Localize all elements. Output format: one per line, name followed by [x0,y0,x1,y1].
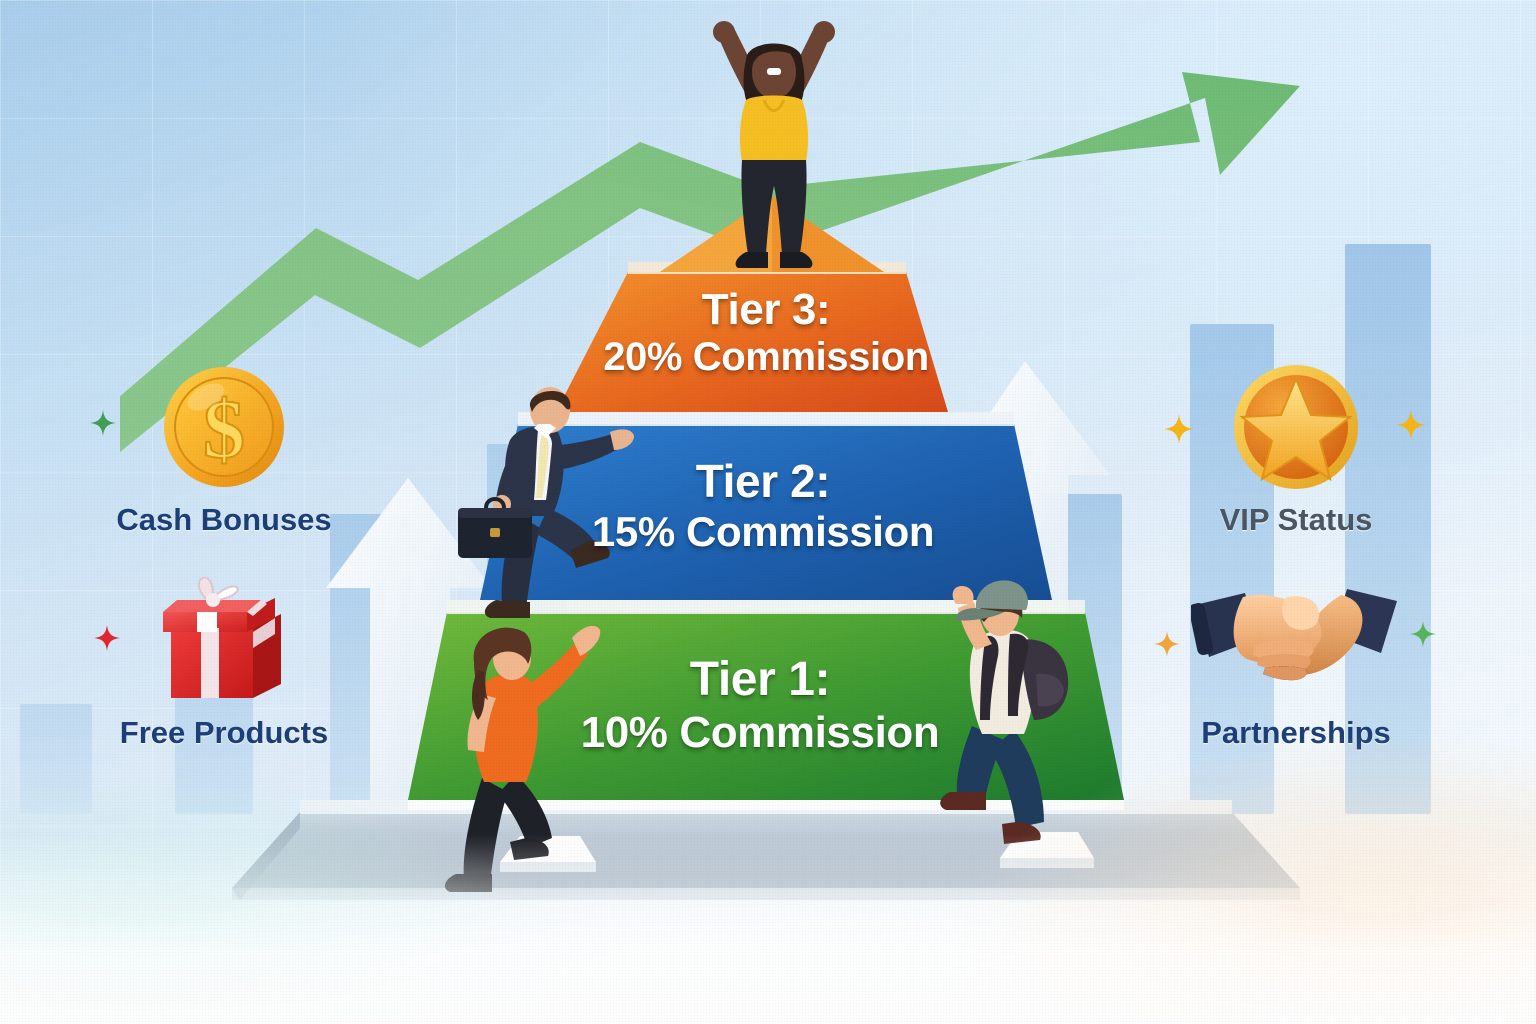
cash-bonuses-icon-wrap: $ [74,352,374,502]
feature-cash-bonuses[interactable]: $ Cash Bonuses [74,352,374,538]
infographic-canvas: Tier 3: 20% Commission Tier 2: 15% Commi… [0,0,1536,1024]
character-climber-businessman [452,382,638,626]
feature-label: VIP Status [1146,502,1446,538]
sparkle-icon [94,625,120,651]
feature-vip-status[interactable]: VIP Status [1146,352,1446,538]
feature-label: Cash Bonuses [74,502,374,538]
character-winner-top [676,14,872,280]
sparkle-icon [1410,621,1436,647]
background-bottom-fade [0,834,1536,1024]
free-products-icon-wrap [74,565,374,715]
sparkle-icon [90,410,116,436]
handshake-icon [1191,575,1401,705]
gold-coin-dollar-icon: $ [154,357,294,497]
gift-box-icon [149,570,299,710]
partnerships-icon-wrap [1146,565,1446,715]
star-medal-icon [1226,357,1366,497]
sparkle-icon [1396,410,1426,440]
vip-status-icon-wrap [1146,352,1446,502]
sparkle-icon [1164,414,1194,444]
sparkle-icon [1154,631,1180,657]
